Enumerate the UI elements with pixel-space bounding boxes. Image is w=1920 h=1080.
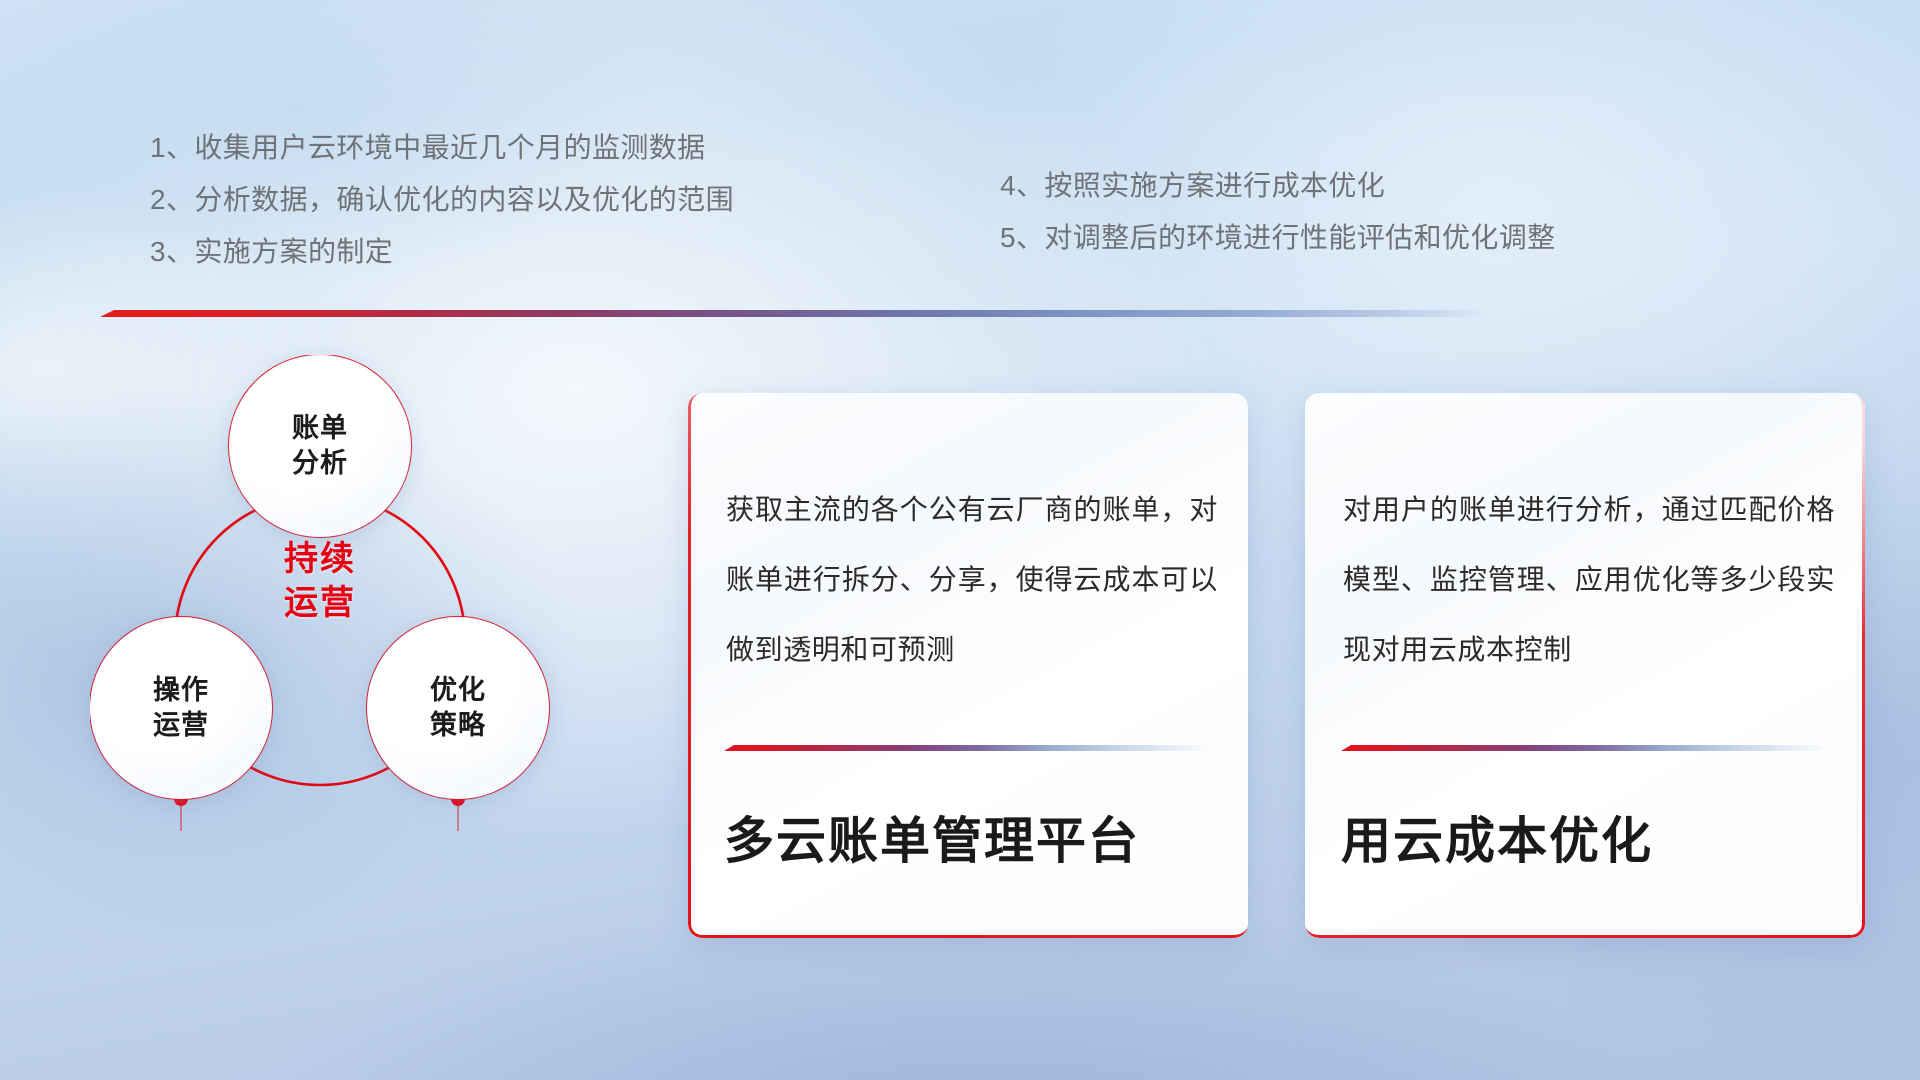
- card-body-text: 获取主流的各个公有云厂商的账单，对账单进行拆分、分享，使得云成本可以做到透明和可…: [726, 475, 1218, 685]
- steps-list-right: 4、按照实施方案进行成本优化 5、对调整后的环境进行性能评估和优化调整: [1000, 160, 1556, 264]
- venn-center-line2: 运营: [284, 581, 356, 625]
- step-item: 2、分析数据，确认优化的内容以及优化的范围: [150, 174, 734, 226]
- card-divider-line: [1341, 745, 1829, 751]
- venn-bubble-line2: 策略: [430, 708, 486, 743]
- feature-card-cloud-cost-optimization[interactable]: 对用户的账单进行分析，通过匹配价格模型、监控管理、应用优化等多少段实现对用云成本…: [1305, 393, 1865, 938]
- venn-bubble-line1: 账单: [292, 411, 348, 446]
- venn-center-label: 持续 运营: [224, 495, 416, 667]
- venn-bubble-line2: 分析: [292, 446, 348, 481]
- card-title: 多云账单管理平台: [724, 811, 1218, 871]
- section-divider-line: [100, 310, 1490, 317]
- slide-canvas: 1、收集用户云环境中最近几个月的监测数据 2、分析数据，确认优化的内容以及优化的…: [0, 0, 1920, 1080]
- venn-diagram: 账单 分析 操作 运营 优化 策略 持续 运营: [90, 355, 650, 955]
- feature-card-multicloud-billing[interactable]: 获取主流的各个公有云厂商的账单，对账单进行拆分、分享，使得云成本可以做到透明和可…: [688, 393, 1248, 938]
- card-body-text: 对用户的账单进行分析，通过匹配价格模型、监控管理、应用优化等多少段实现对用云成本…: [1343, 475, 1835, 685]
- venn-bubble-line2: 运营: [153, 708, 209, 743]
- step-item: 5、对调整后的环境进行性能评估和优化调整: [1000, 212, 1556, 264]
- venn-bubble-line1: 优化: [430, 673, 486, 708]
- step-item: 3、实施方案的制定: [150, 226, 734, 278]
- step-item: 1、收集用户云环境中最近几个月的监测数据: [150, 122, 734, 174]
- venn-center-line1: 持续: [284, 537, 356, 581]
- card-title: 用云成本优化: [1341, 811, 1835, 871]
- venn-bubble-line1: 操作: [153, 673, 209, 708]
- card-divider-line: [724, 745, 1212, 751]
- step-item: 4、按照实施方案进行成本优化: [1000, 160, 1556, 212]
- steps-list-left: 1、收集用户云环境中最近几个月的监测数据 2、分析数据，确认优化的内容以及优化的…: [150, 122, 734, 278]
